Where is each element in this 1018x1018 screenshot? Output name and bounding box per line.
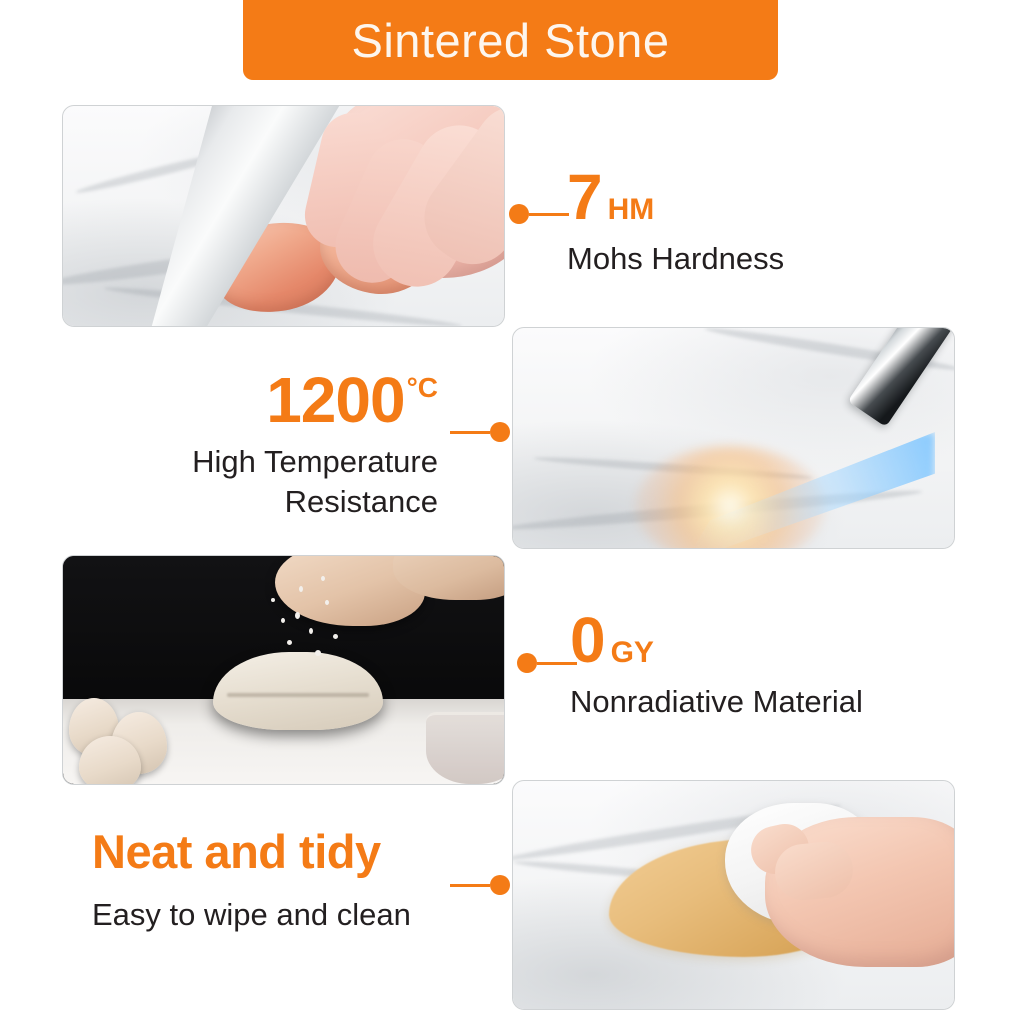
connector-mohs-hardness: [509, 204, 569, 224]
title-banner: Sintered Stone: [243, 0, 778, 80]
photo-inner: [513, 328, 954, 548]
stat-unit: °C: [407, 374, 438, 402]
stat-value: 1200: [266, 368, 404, 432]
dough-kneading-photo: [62, 555, 505, 785]
stat-caption: Easy to wipe and clean: [92, 895, 411, 935]
flour-speck: [315, 650, 321, 656]
knife-cutting-meat-photo: [62, 105, 505, 327]
stat-value-row: 0 GY: [570, 608, 863, 672]
flour-speck: [309, 628, 313, 634]
connector-dot: [490, 875, 510, 895]
flour-speck: [287, 640, 292, 645]
flour-speck: [281, 618, 285, 623]
connector-nonradiative: [517, 653, 577, 673]
connector-line: [450, 884, 490, 887]
flour-speck: [333, 634, 338, 639]
connector-neat-and-tidy: [450, 875, 510, 895]
flour-speck: [299, 586, 303, 592]
photo-inner: [63, 556, 504, 784]
flour-speck: [295, 612, 300, 619]
stat-caption: Mohs Hardness: [567, 239, 784, 279]
stat-caption: Nonradiative Material: [570, 682, 863, 722]
dough-ball: [213, 652, 383, 730]
stat-value: 7: [567, 165, 602, 229]
stat-caption-line1: High Temperature: [60, 442, 438, 482]
stat-neat-and-tidy: Neat and tidy Easy to wipe and clean: [92, 828, 411, 935]
wiping-spill-photo: [512, 780, 955, 1010]
stat-headline: Neat and tidy: [92, 828, 411, 875]
stat-mohs-hardness: 7 HM Mohs Hardness: [567, 165, 784, 279]
stat-nonradiative-material: 0 GY Nonradiative Material: [570, 608, 863, 722]
connector-high-temperature: [450, 422, 510, 442]
infographic-page: Sintered Stone 7 HM Mohs Hardness: [0, 0, 1018, 1018]
flour-speck: [271, 598, 275, 602]
photo-inner: [63, 106, 504, 326]
photo-inner: [513, 781, 954, 1009]
connector-line: [450, 431, 490, 434]
stat-value-row: 7 HM: [567, 165, 784, 229]
stat-high-temperature-resistance: 1200 °C High Temperature Resistance: [60, 368, 438, 521]
connector-dot: [517, 653, 537, 673]
connector-dot: [509, 204, 529, 224]
connector-dot: [490, 422, 510, 442]
blowtorch-flame-photo: [512, 327, 955, 549]
page-title: Sintered Stone: [352, 17, 670, 64]
flour-speck: [325, 600, 329, 605]
bowl: [426, 712, 504, 784]
stat-caption-line2: Resistance: [60, 482, 438, 522]
stat-unit: GY: [611, 638, 654, 668]
connector-line: [529, 213, 569, 216]
stat-value: 0: [570, 608, 605, 672]
stat-value-row: 1200 °C: [60, 368, 438, 432]
stat-unit: HM: [608, 195, 655, 225]
flour-speck: [321, 576, 325, 581]
